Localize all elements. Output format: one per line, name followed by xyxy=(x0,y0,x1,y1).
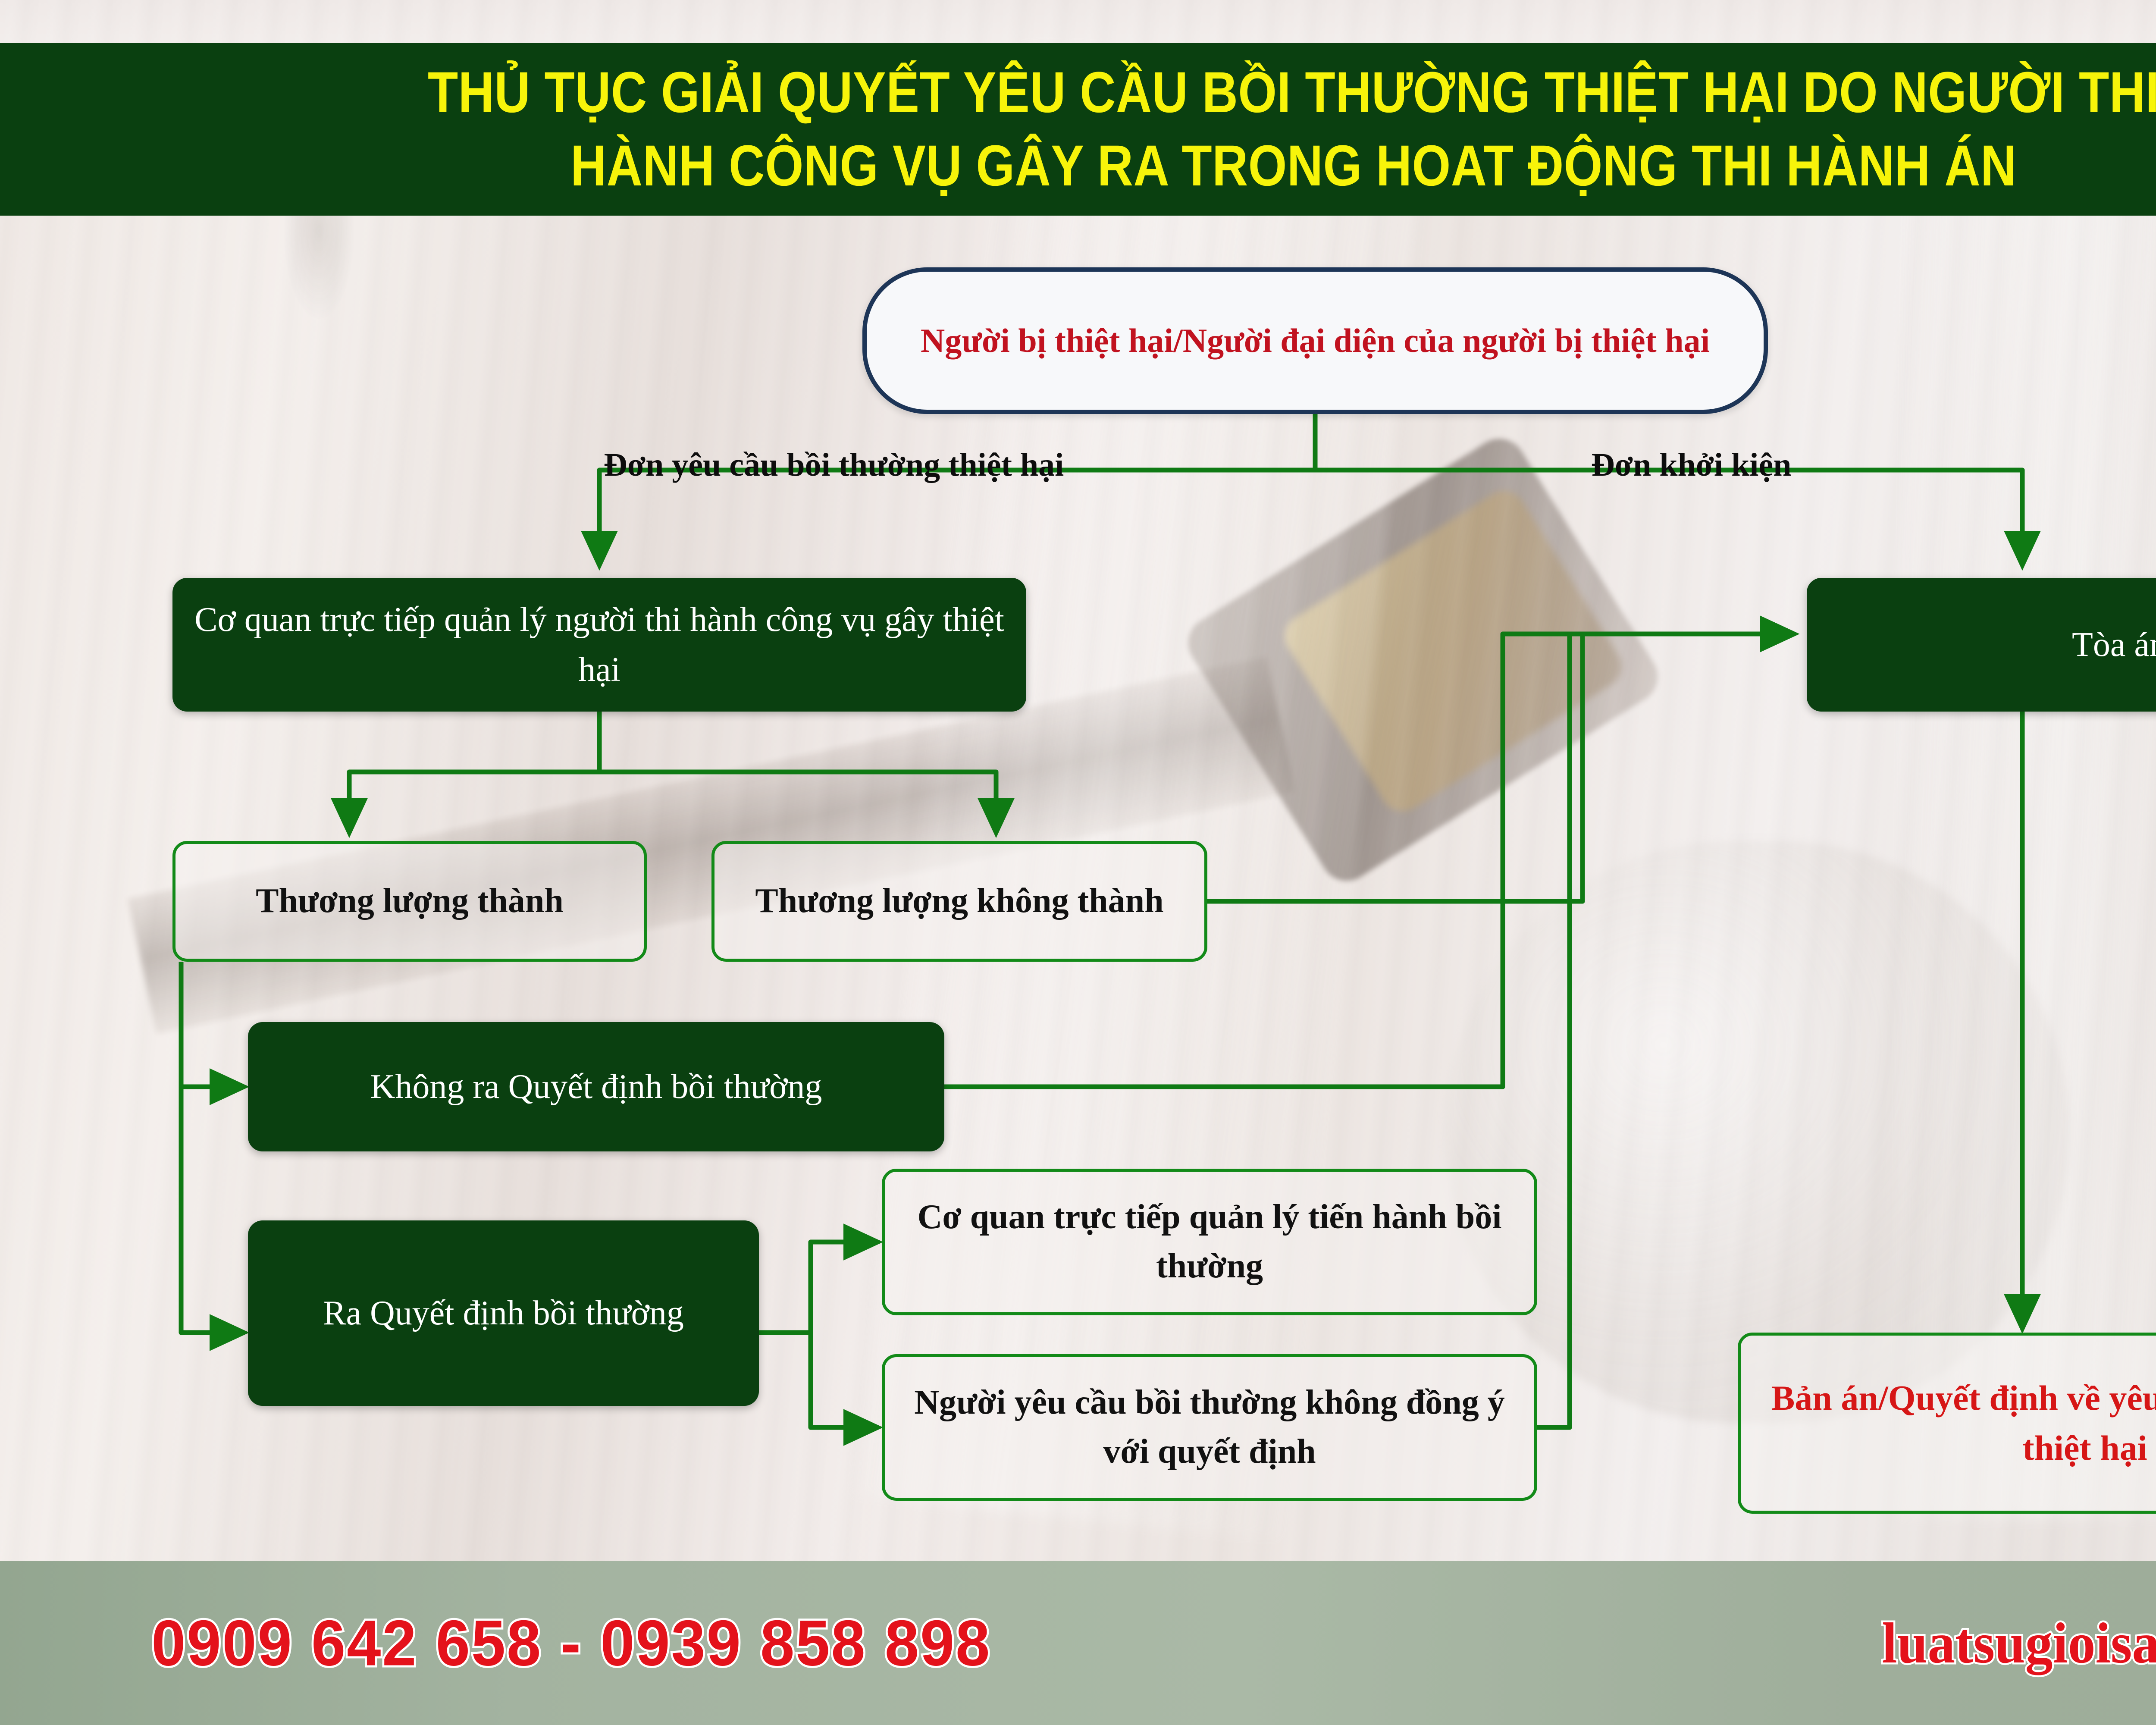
node-judgment-label: Bản án/Quyết định về yêu cầu bồi thường … xyxy=(1741,1373,2156,1474)
edge-disagree-to-court xyxy=(1535,634,1794,1427)
node-managing-agency[interactable]: Cơ quan trực tiếp quản lý người thi hành… xyxy=(172,578,1026,712)
node-judgment[interactable]: Bản án/Quyết định về yêu cầu bồi thường … xyxy=(1738,1333,2156,1514)
node-claimant-disagrees-label: Người yêu cầu bồi thường không đồng ý vớ… xyxy=(885,1378,1534,1476)
node-managing-agency-label: Cơ quan trực tiếp quản lý người thi hành… xyxy=(172,595,1026,695)
node-issue-decision-label: Ra Quyết định bồi thường xyxy=(248,1288,759,1338)
node-court[interactable]: Tòa án xyxy=(1807,578,2156,712)
node-claimant-disagrees[interactable]: Người yêu cầu bồi thường không đồng ý vớ… xyxy=(882,1354,1537,1501)
edge-agency-to-negotiation-success xyxy=(349,772,599,832)
node-negotiation-success-label: Thương lượng thành xyxy=(175,877,644,926)
node-claimant[interactable]: Người bị thiệt hại/Người đại diện của ng… xyxy=(862,267,1768,414)
node-court-label: Tòa án xyxy=(1807,620,2156,670)
edge-agency-to-negotiation-fail xyxy=(599,772,996,832)
node-negotiation-fail-label: Thương lượng không thành xyxy=(714,877,1204,926)
edge-success-to-no-decision xyxy=(181,962,244,1087)
edge-label-compensation-request: Đơn yêu cầu bồi thường thiệt hại xyxy=(604,446,1064,484)
node-claimant-label: Người bị thiệt hại/Người đại diện của ng… xyxy=(867,317,1764,365)
node-negotiation-success[interactable]: Thương lượng thành xyxy=(172,841,647,962)
node-negotiation-fail[interactable]: Thương lượng không thành xyxy=(711,841,1207,962)
node-no-decision[interactable]: Không ra Quyết định bồi thường xyxy=(248,1022,944,1151)
node-agency-pays[interactable]: Cơ quan trực tiếp quản lý tiến hành bồi … xyxy=(882,1169,1537,1315)
edge-issue-decision-to-agency-pays xyxy=(759,1242,877,1333)
edge-label-lawsuit-petition: Đơn khởi kiện xyxy=(1591,446,1791,484)
node-agency-pays-label: Cơ quan trực tiếp quản lý tiến hành bồi … xyxy=(885,1193,1534,1291)
node-no-decision-label: Không ra Quyết định bồi thường xyxy=(248,1062,944,1112)
node-issue-decision[interactable]: Ra Quyết định bồi thường xyxy=(248,1220,759,1406)
edge-issue-decision-to-claimant-disagrees xyxy=(811,1333,877,1427)
edge-claimant-to-agency xyxy=(599,470,1315,565)
edge-success-to-issue-decision xyxy=(181,1087,244,1333)
edge-claimant-to-court xyxy=(1315,470,2022,565)
